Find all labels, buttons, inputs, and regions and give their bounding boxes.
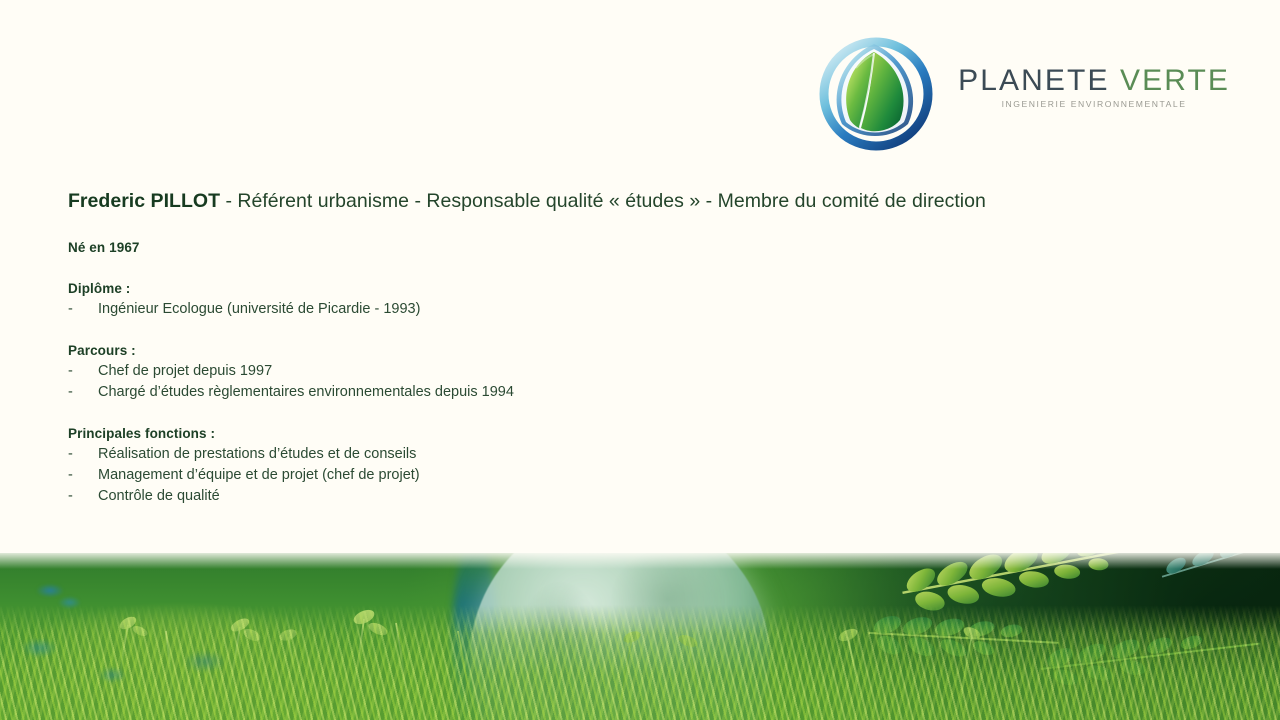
list-item-text: Chargé d’études règlementaires environne…	[98, 384, 514, 400]
section-heading-parcours: Parcours :	[68, 341, 1168, 361]
brand-subtitle: INGENIERIE ENVIRONNEMENTALE	[958, 99, 1230, 109]
list-item: - Management d’équipe et de projet (chef…	[68, 465, 1168, 486]
brand-wordmark: PLANETE VERTE INGENIERIE ENVIRONNEMENTAL…	[958, 65, 1230, 120]
person-name: Frederic PILLOT	[68, 190, 220, 212]
list-item: - Ingénieur Ecologue (université de Pica…	[68, 299, 1168, 320]
photo-top-feather	[0, 553, 1280, 569]
photo-blue-flower	[22, 569, 92, 623]
bullet-marker-icon: -	[68, 465, 73, 486]
section-heading-principales-fonctions: Principales fonctions :	[68, 424, 1168, 444]
birth-year-label: Né en 1967	[68, 238, 1168, 258]
brand-title-planete: PLANETE	[958, 64, 1109, 97]
page-title: Frederic PILLOT - Référent urbanisme - R…	[68, 188, 986, 214]
section-list-principales-fonctions: - Réalisation de prestations d’études et…	[68, 444, 1168, 507]
planete-verte-globe-leaf-logo-icon	[812, 28, 940, 156]
list-item-text: Ingénieur Ecologue (université de Picard…	[98, 301, 420, 317]
nature-foliage-globe-photo	[0, 553, 1280, 720]
list-item-text: Contrôle de qualité	[98, 488, 220, 504]
list-item: - Chef de projet depuis 1997	[68, 361, 1168, 382]
spacer	[68, 320, 1168, 341]
list-item-text: Réalisation de prestations d’études et d…	[98, 446, 416, 462]
spacer	[68, 258, 1168, 279]
bullet-marker-icon: -	[68, 382, 73, 403]
list-item: - Contrôle de qualité	[68, 486, 1168, 507]
spacer	[68, 403, 1168, 424]
photo-teal-accents	[0, 612, 330, 702]
slide-canvas: PLANETE VERTE INGENIERIE ENVIRONNEMENTAL…	[0, 0, 1280, 720]
section-heading-diplome: Diplôme :	[68, 279, 1168, 299]
brand-title-verte: VERTE	[1120, 64, 1230, 97]
brand-title: PLANETE VERTE	[958, 65, 1230, 97]
list-item: - Chargé d’études règlementaires environ…	[68, 382, 1168, 403]
profile-details: Né en 1967 Diplôme : - Ingénieur Ecologu…	[68, 238, 1168, 507]
brand-logo: PLANETE VERTE INGENIERIE ENVIRONNEMENTAL…	[812, 28, 1230, 156]
person-roles: - Référent urbanisme - Responsable quali…	[220, 190, 986, 212]
bullet-marker-icon: -	[68, 299, 73, 320]
section-list-parcours: - Chef de projet depuis 1997 - Chargé d’…	[68, 361, 1168, 403]
list-item-text: Management d’équipe et de projet (chef d…	[98, 467, 420, 483]
section-list-diplome: - Ingénieur Ecologue (université de Pica…	[68, 299, 1168, 320]
bullet-marker-icon: -	[68, 444, 73, 465]
list-item: - Réalisation de prestations d’études et…	[68, 444, 1168, 465]
bullet-marker-icon: -	[68, 486, 73, 507]
list-item-text: Chef de projet depuis 1997	[98, 363, 272, 379]
bullet-marker-icon: -	[68, 361, 73, 382]
